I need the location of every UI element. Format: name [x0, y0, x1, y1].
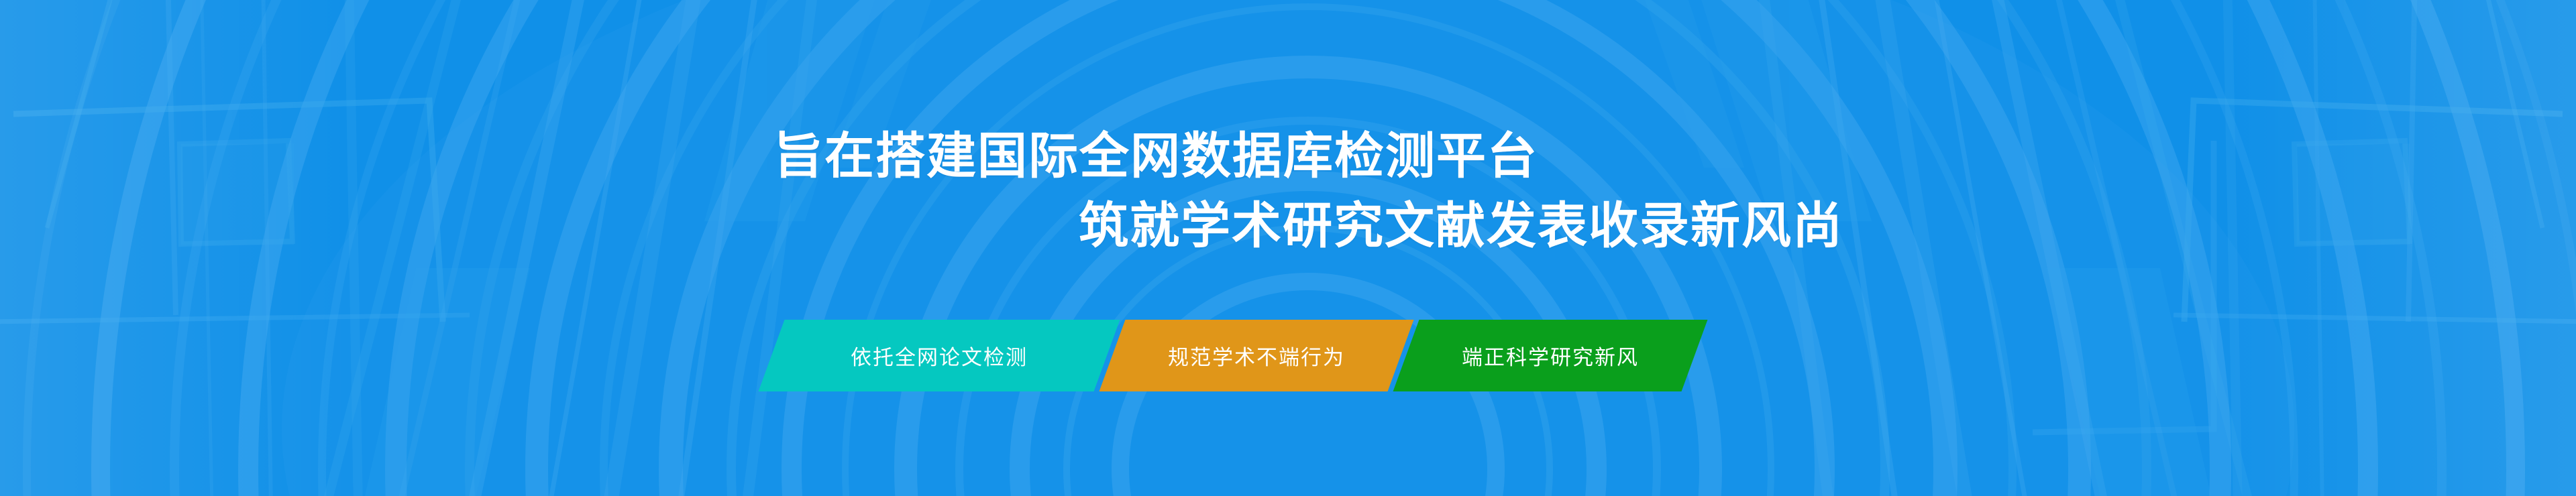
diagonal-strokes-left: [322, 0, 815, 496]
feature-badge-0-label: 依托全网论文检测: [847, 340, 1032, 371]
headline-block: 旨在搭建国际全网数据库检测平台 筑就学术研究文献发表收录新风尚: [0, 0, 2576, 496]
slab-shapes-left: [359, 0, 936, 496]
feature-badge-0[interactable]: 依托全网论文检测: [759, 320, 1120, 391]
feature-badge-1-label: 规范学术不端行为: [1164, 340, 1349, 371]
feature-badge-1[interactable]: 规范学术不端行为: [1099, 320, 1414, 391]
headline-line-2: 筑就学术研究文献发表收录新风尚: [1079, 201, 1843, 251]
right-grid-lines: [2033, 0, 2576, 496]
feature-badge-strip: 依托全网论文检测 规范学术不端行为 端正科学研究新风: [771, 320, 1695, 391]
headline-line-1: 旨在搭建国际全网数据库检测平台: [773, 131, 1538, 181]
slab-shapes-right: [1640, 0, 2217, 496]
left-grid-lines: [0, 0, 470, 496]
concentric-arc-group: [27, 0, 2576, 496]
background-pattern: [0, 0, 2576, 496]
feature-badge-2-label: 端正科学研究新风: [1458, 340, 1643, 371]
promo-banner: 旨在搭建国际全网数据库检测平台 筑就学术研究文献发表收录新风尚 依托全网论文检测…: [0, 0, 2576, 496]
diagonal-strokes-right: [1761, 0, 2254, 496]
feature-badge-2[interactable]: 端正科学研究新风: [1393, 320, 1708, 391]
